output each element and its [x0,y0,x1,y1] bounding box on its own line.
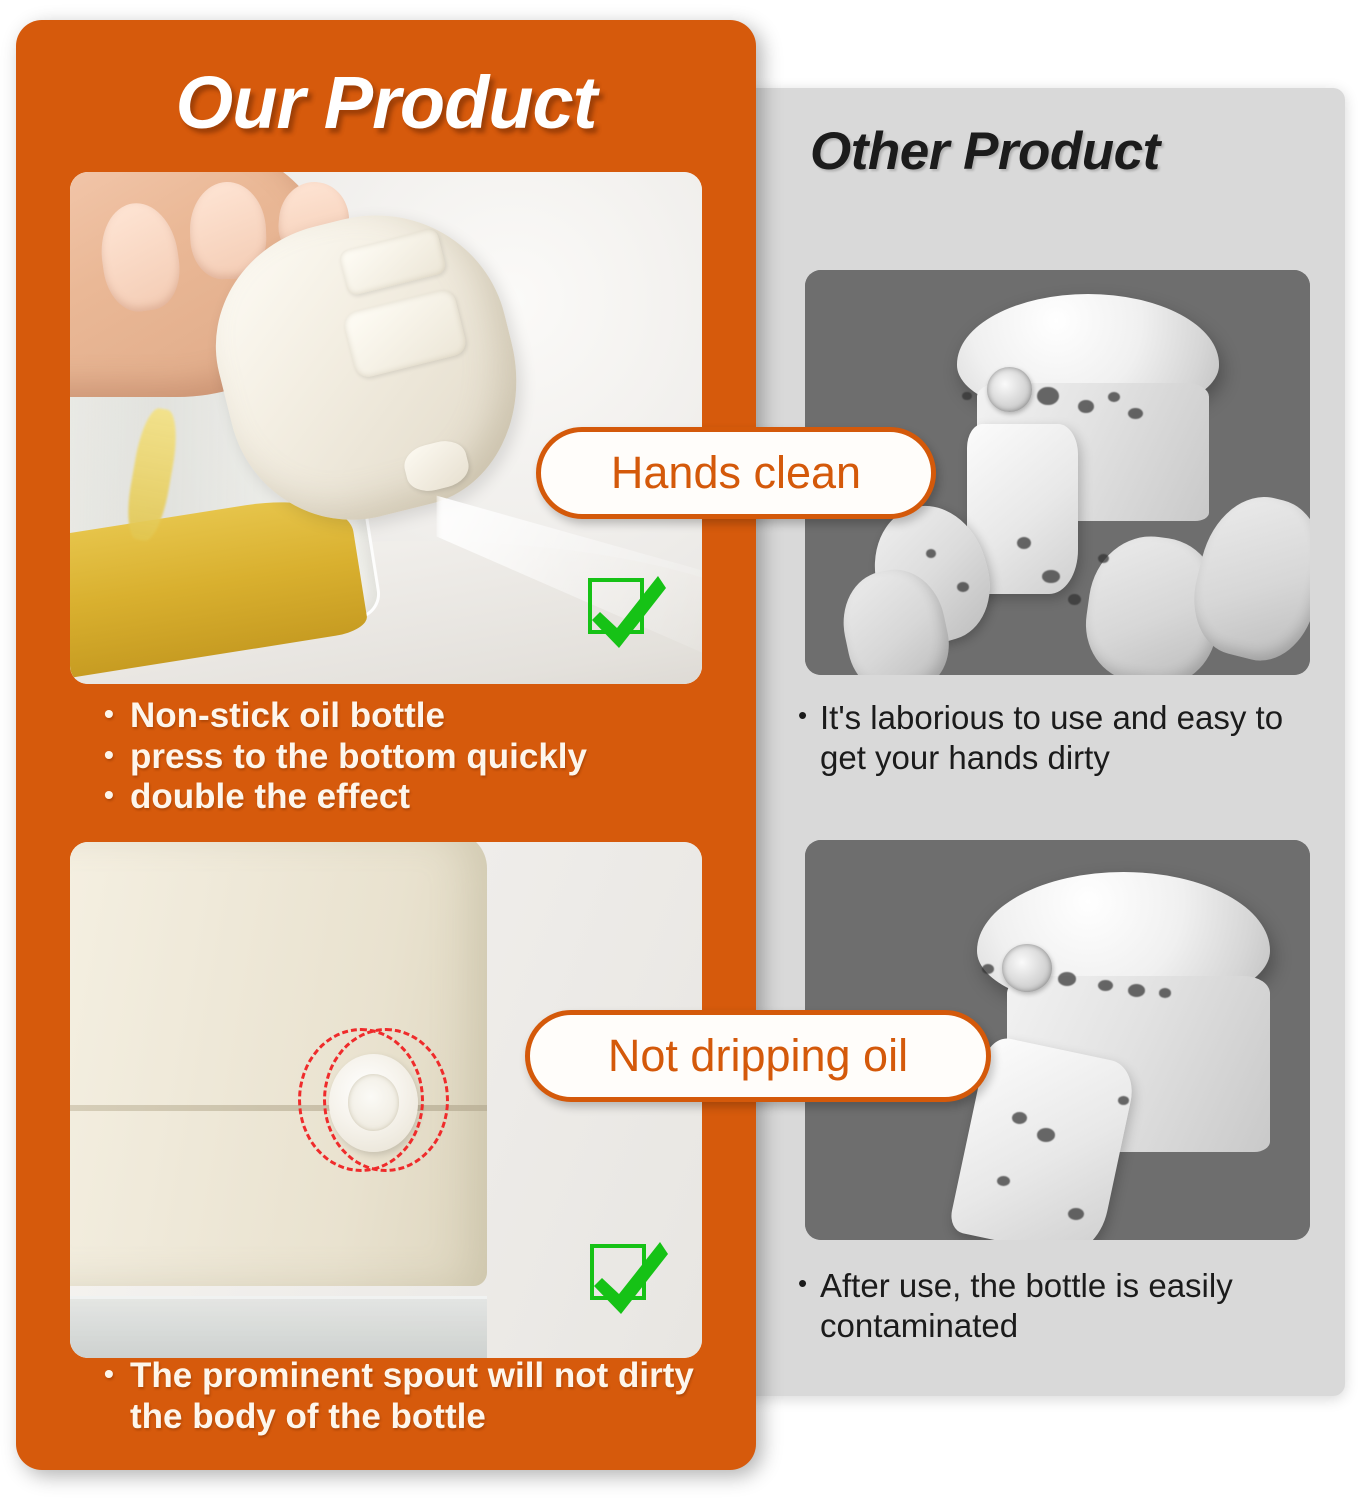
green-check-icon [590,1244,646,1300]
bullet-marker: • [798,1266,820,1301]
list-item: • press to the bottom quickly [104,737,724,778]
other-product-title: Other Product [810,121,1160,182]
list-item: • The prominent spout will not dirty the… [104,1356,724,1437]
bullet-marker: • [798,698,820,733]
other-product-bullets-2: • After use, the bottle is easily contam… [798,1266,1338,1347]
other-product-bullets-1: • It's laborious to use and easy to get … [798,698,1338,779]
list-item: • It's laborious to use and easy to get … [798,698,1338,779]
feature-pill-not-dripping-oil[interactable]: Not dripping oil [525,1010,991,1102]
bullet-text: press to the bottom quickly [130,737,724,778]
bullet-text: After use, the bottle is easily contamin… [820,1266,1338,1347]
spout-highlight-circle [323,1028,449,1172]
bullet-text: double the effect [130,777,724,818]
list-item: • After use, the bottle is easily contam… [798,1266,1338,1347]
bullet-text: Non-stick oil bottle [130,696,724,737]
list-item: • Non-stick oil bottle [104,696,724,737]
other-product-panel: Other Product [720,88,1345,1396]
bullet-marker: • [104,777,130,812]
list-item: • double the effect [104,777,724,818]
bullet-marker: • [104,696,130,731]
green-check-icon [588,578,644,634]
bullet-marker: • [104,737,130,772]
bullet-text: It's laborious to use and easy to get yo… [820,698,1338,779]
bullet-marker: • [104,1356,130,1391]
comparison-infographic: Other Product [0,0,1371,1500]
bullet-text: The prominent spout will not dirty the b… [130,1356,724,1437]
feature-pill-hands-clean[interactable]: Hands clean [536,427,936,519]
our-product-title: Our Product [16,60,756,145]
our-product-bullets-1: • Non-stick oil bottle • press to the bo… [104,696,724,818]
our-product-bullets-2: • The prominent spout will not dirty the… [104,1356,724,1437]
